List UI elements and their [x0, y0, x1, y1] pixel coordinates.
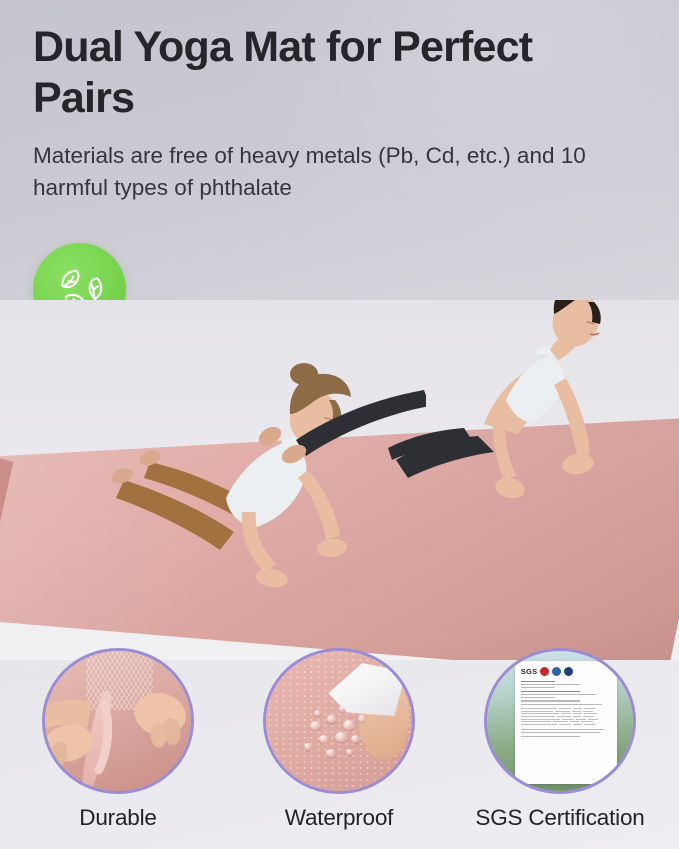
waterproof-thumbnail[interactable] [263, 648, 415, 794]
feature-durable[interactable]: Durable [18, 648, 218, 831]
sgs-logo: SGS [521, 667, 538, 676]
certificate-header: SGS [521, 667, 611, 676]
cnas-red-mark [540, 667, 549, 676]
person-adult-legs [236, 356, 426, 486]
ilac-blue-mark [552, 667, 561, 676]
page-subtitle: Materials are free of heavy metals (Pb, … [33, 140, 633, 204]
hero-scene: YOTTOY [0, 300, 679, 660]
certificate-document: SGS [515, 661, 617, 784]
certificate-results-table [521, 708, 611, 725]
water-droplets-cloth-photo [266, 651, 412, 791]
hand-peeling-mat-photo [45, 651, 191, 791]
feature-waterproof[interactable]: Waterproof [239, 648, 439, 831]
durable-thumbnail[interactable] [42, 648, 194, 794]
sgs-thumbnail[interactable]: SGS [484, 648, 636, 794]
page-title: Dual Yoga Mat for Perfect Pairs [33, 22, 573, 123]
feature-row: Durable [0, 648, 679, 849]
product-marketing-image: Dual Yoga Mat for Perfect Pairs Material… [0, 0, 679, 849]
sgs-certificate-document-photo: SGS [487, 651, 633, 791]
feature-label: SGS Certification [460, 805, 660, 831]
feature-label: Durable [18, 805, 218, 831]
cma-navy-mark [564, 667, 573, 676]
feature-label: Waterproof [239, 805, 439, 831]
feature-sgs[interactable]: SGS [460, 648, 660, 831]
